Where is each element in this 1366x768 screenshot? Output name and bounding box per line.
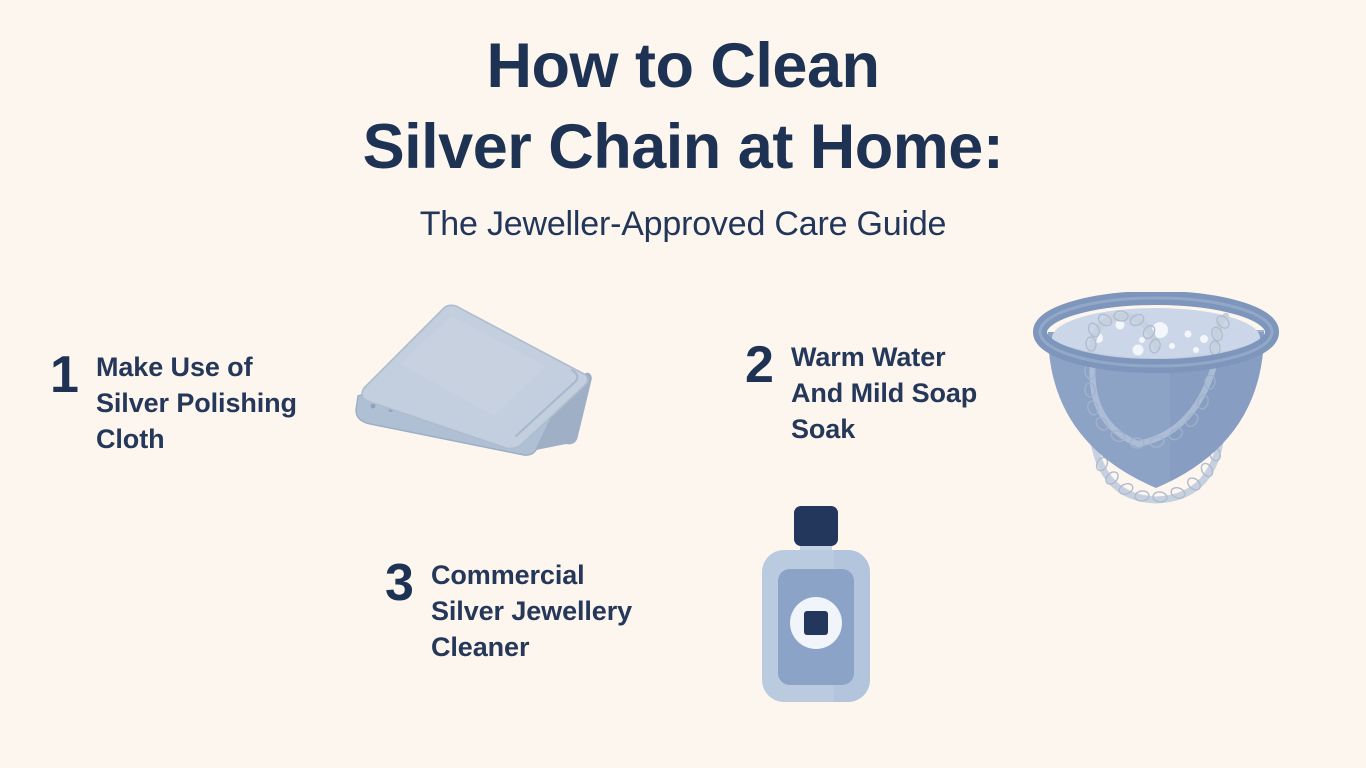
- cleaner-bottle-icon: [748, 503, 884, 708]
- step-3-label: Commercial Silver Jewellery Cleaner: [431, 558, 691, 666]
- step-1: 1 Make Use of Silver Polishing Cloth: [50, 350, 341, 458]
- bowl-of-water-with-chain-icon: [1020, 292, 1292, 506]
- page-subtitle: The Jeweller-Approved Care Guide: [0, 205, 1366, 244]
- polishing-cloth-icon: [340, 278, 602, 474]
- infographic-canvas: How to Clean Silver Chain at Home: The J…: [0, 0, 1366, 768]
- step-3: 3 Commercial Silver Jewellery Cleaner: [385, 558, 691, 666]
- step-2: 2 Warm Water And Mild Soap Soak: [745, 340, 1031, 448]
- title-line-1: How to Clean: [0, 26, 1366, 107]
- step-2-label: Warm Water And Mild Soap Soak: [791, 340, 1031, 448]
- step-3-number: 3: [385, 558, 431, 609]
- step-2-number: 2: [745, 340, 791, 391]
- page-title: How to Clean Silver Chain at Home: The J…: [0, 26, 1366, 244]
- step-1-label: Make Use of Silver Polishing Cloth: [96, 350, 341, 458]
- step-1-number: 1: [50, 350, 96, 401]
- title-line-2: Silver Chain at Home:: [0, 107, 1366, 188]
